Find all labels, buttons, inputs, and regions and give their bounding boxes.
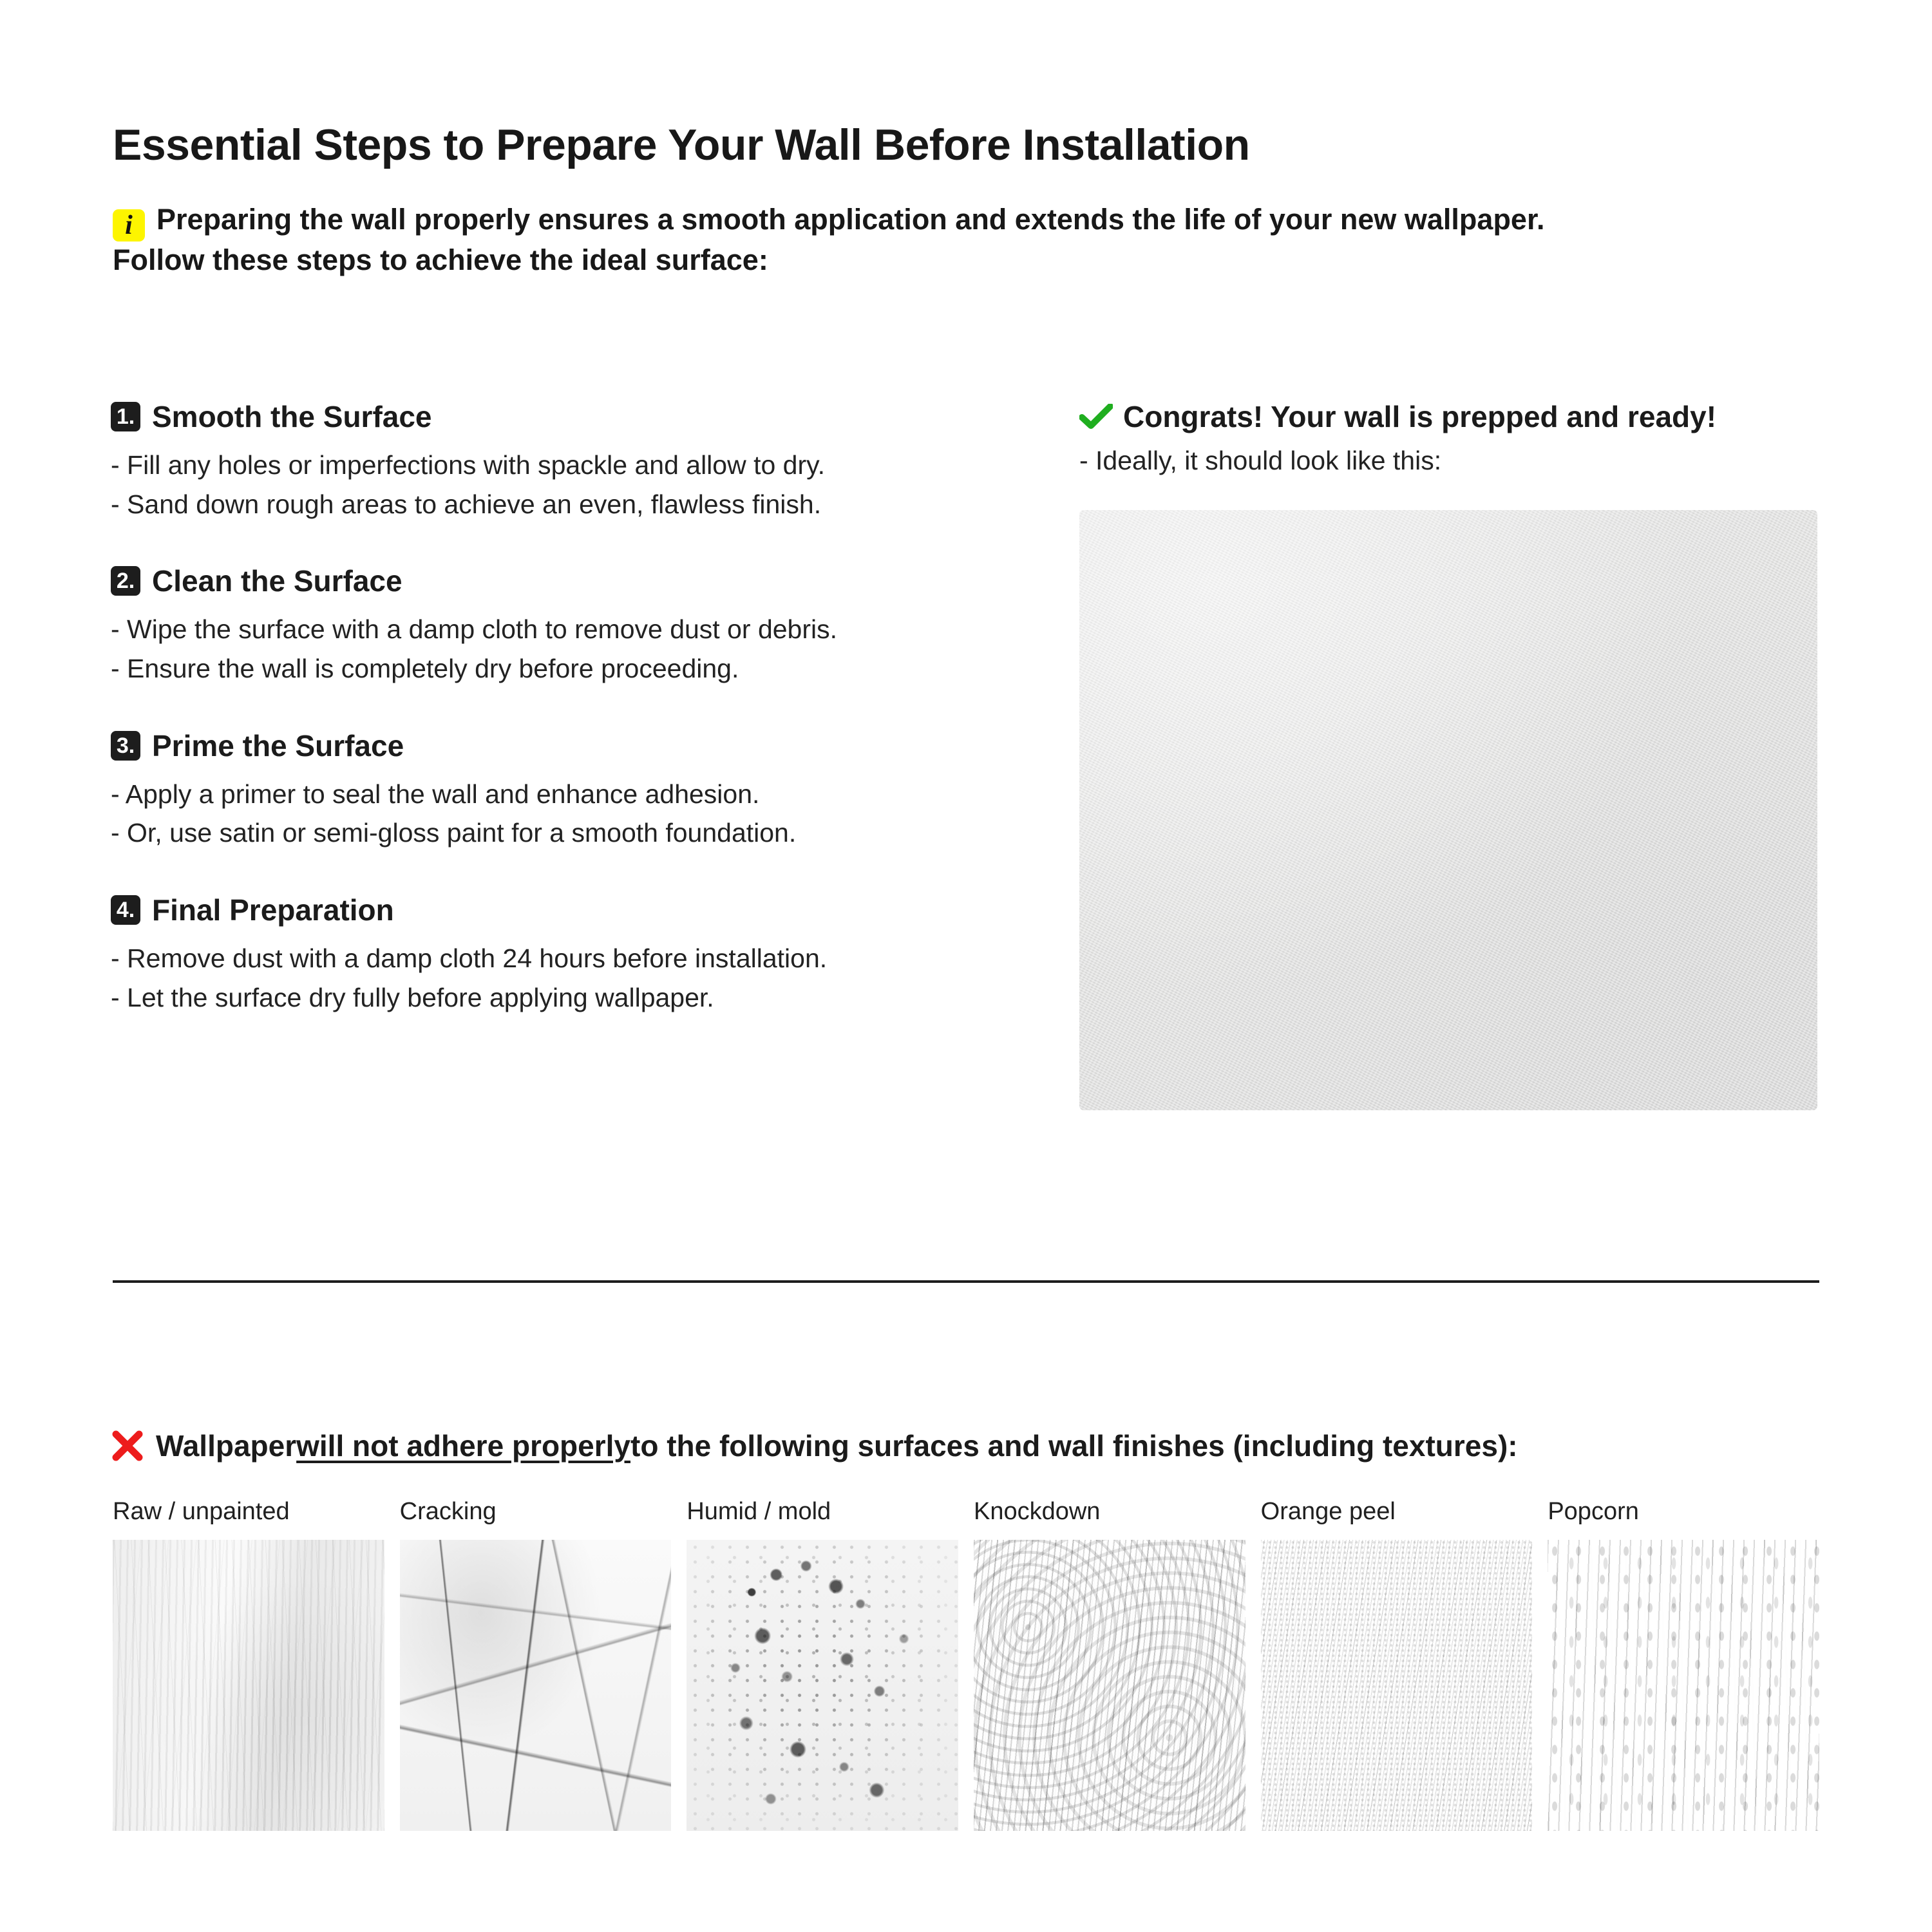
step-item-3: 3. Prime the Surface - Apply a primer to… [111, 728, 1012, 853]
step-2-bullet-2: - Ensure the wall is completely dry befo… [111, 649, 1012, 688]
step-3-number-badge: 3. [111, 731, 140, 761]
texture-label-raw-unpainted: Raw / unpainted [113, 1498, 384, 1526]
step-3-title: Prime the Surface [152, 728, 404, 763]
knockdown-texture-image [974, 1540, 1245, 1831]
check-icon [1079, 404, 1113, 430]
step-1-header: 1. Smooth the Surface [111, 399, 1012, 434]
step-3-header: 3. Prime the Surface [111, 728, 1012, 763]
step-item-2: 2. Clean the Surface - Wipe the surface … [111, 563, 1012, 688]
step-1-number-badge: 1. [111, 402, 140, 431]
step-2-header: 2. Clean the Surface [111, 563, 1012, 598]
info-icon: i [113, 209, 145, 241]
wall-preparation-guide: Essential Steps to Prepare Your Wall Bef… [0, 0, 1932, 1932]
bad-surfaces-grid: Raw / unpainted Cracking Humid / mold Kn… [113, 1498, 1819, 1831]
intro-line-2: Follow these steps to achieve the ideal … [113, 243, 768, 276]
section-divider [113, 1280, 1819, 1283]
texture-cell-raw-unpainted: Raw / unpainted [113, 1498, 384, 1831]
texture-label-knockdown: Knockdown [974, 1498, 1245, 1526]
texture-cell-popcorn: Popcorn [1548, 1498, 1819, 1831]
congrats-block: Congrats! Your wall is prepped and ready… [1079, 399, 1820, 476]
step-4-title: Final Preparation [152, 893, 394, 927]
texture-label-cracking: Cracking [400, 1498, 672, 1526]
warning-text-underlined: will not adhere properly [296, 1428, 630, 1463]
page-title: Essential Steps to Prepare Your Wall Bef… [113, 120, 1250, 170]
texture-label-orange-peel: Orange peel [1261, 1498, 1533, 1526]
warning-text-before: Wallpaper [156, 1428, 296, 1463]
texture-cell-humid-mold: Humid / mold [687, 1498, 958, 1831]
step-2-title: Clean the Surface [152, 563, 402, 598]
texture-cell-knockdown: Knockdown [974, 1498, 1245, 1831]
step-3-bullet-1: - Apply a primer to seal the wall and en… [111, 775, 1012, 814]
intro-line-1: Preparing the wall properly ensures a sm… [156, 203, 1545, 236]
texture-label-humid-mold: Humid / mold [687, 1498, 958, 1526]
step-2-bullet-1: - Wipe the surface with a damp cloth to … [111, 610, 1012, 649]
step-item-1: 1. Smooth the Surface - Fill any holes o… [111, 399, 1012, 524]
step-4-bullet-1: - Remove dust with a damp cloth 24 hours… [111, 939, 1012, 978]
step-3-bullet-2: - Or, use satin or semi-gloss paint for … [111, 813, 1012, 853]
congrats-heading-text: Congrats! Your wall is prepped and ready… [1123, 399, 1716, 434]
step-2-number-badge: 2. [111, 566, 140, 596]
step-4-bullet-2: - Let the surface dry fully before apply… [111, 978, 1012, 1018]
step-item-4: 4. Final Preparation - Remove dust with … [111, 893, 1012, 1017]
orange-peel-texture-image [1261, 1540, 1533, 1831]
x-icon [111, 1429, 144, 1463]
humid-mold-texture-image [687, 1540, 958, 1831]
warning-header: Wallpaper will not adhere properly to th… [111, 1428, 1518, 1463]
ideal-prepped-wall-image [1079, 510, 1817, 1110]
step-1-bullet-1: - Fill any holes or imperfections with s… [111, 446, 1012, 485]
step-4-number-badge: 4. [111, 895, 140, 925]
step-1-title: Smooth the Surface [152, 399, 432, 434]
texture-cell-orange-peel: Orange peel [1261, 1498, 1533, 1831]
intro-block: iPreparing the wall properly ensures a s… [113, 201, 1819, 279]
warning-text-after: to the following surfaces and wall finis… [630, 1428, 1518, 1463]
popcorn-texture-image [1548, 1540, 1819, 1831]
congrats-header: Congrats! Your wall is prepped and ready… [1079, 399, 1820, 434]
texture-cell-cracking: Cracking [400, 1498, 672, 1831]
congrats-subtext: - Ideally, it should look like this: [1079, 446, 1820, 476]
raw-unpainted-texture-image [113, 1540, 384, 1831]
step-1-bullet-2: - Sand down rough areas to achieve an ev… [111, 485, 1012, 524]
step-4-header: 4. Final Preparation [111, 893, 1012, 927]
cracking-texture-image [400, 1540, 672, 1831]
texture-label-popcorn: Popcorn [1548, 1498, 1819, 1526]
steps-list: 1. Smooth the Surface - Fill any holes o… [111, 399, 1012, 1017]
